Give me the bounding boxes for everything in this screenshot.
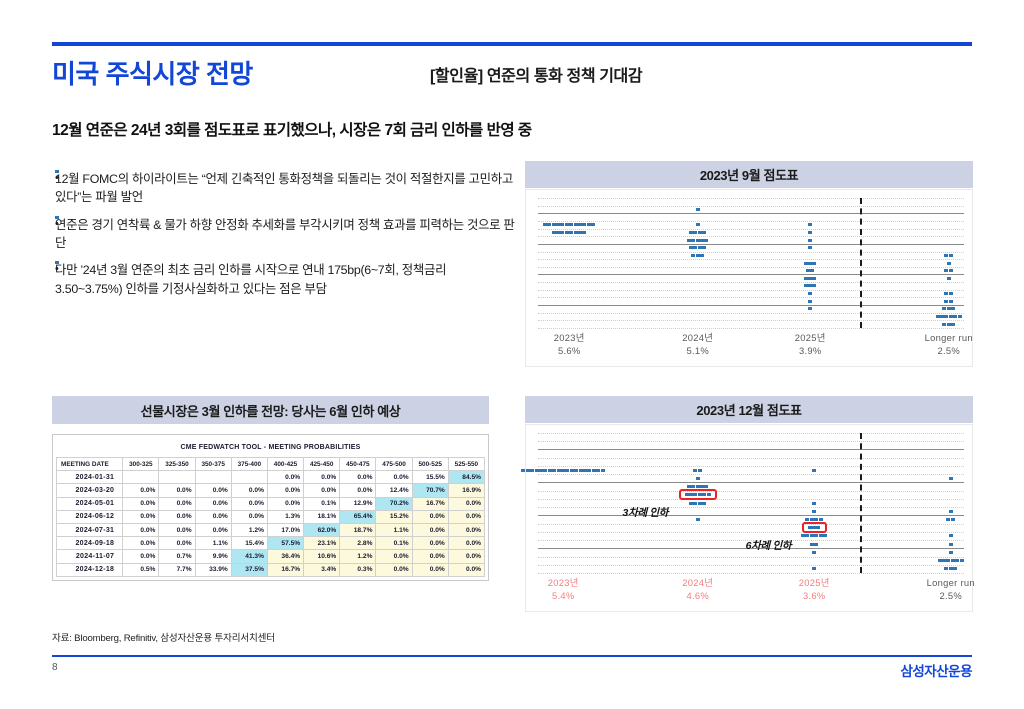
dot-marker bbox=[953, 315, 957, 318]
dot-marker bbox=[940, 315, 944, 318]
x-axis-label-median: 2.5% bbox=[891, 590, 1011, 603]
axis-divider bbox=[860, 198, 862, 328]
dot-marker bbox=[808, 284, 812, 287]
column-header: 350-375 bbox=[195, 458, 231, 471]
cell-probability: 0.0% bbox=[123, 537, 159, 550]
gridline bbox=[538, 482, 964, 483]
x-axis-label-median: 3.9% bbox=[750, 345, 870, 358]
dot-marker bbox=[574, 469, 578, 472]
cell-probability: 57.5% bbox=[267, 537, 303, 550]
cell-probability: 1.2% bbox=[231, 523, 267, 536]
cell-probability: 15.5% bbox=[412, 471, 448, 484]
cell-probability: 0.5% bbox=[123, 563, 159, 576]
gridline bbox=[538, 229, 964, 230]
dot-marker bbox=[823, 534, 827, 537]
plot-area bbox=[538, 198, 964, 328]
cell-probability: 36.4% bbox=[267, 550, 303, 563]
cell-probability bbox=[231, 471, 267, 484]
dot-marker bbox=[557, 469, 561, 472]
cell-probability: 0.0% bbox=[159, 484, 195, 497]
dot-marker bbox=[565, 223, 569, 226]
dot-marker bbox=[936, 315, 940, 318]
dot-marker bbox=[949, 477, 953, 480]
dot-marker bbox=[591, 223, 595, 226]
x-axis-label: 2023년5.6% bbox=[509, 332, 629, 357]
column-header: 500-525 bbox=[412, 458, 448, 471]
cell-probability: 41.3% bbox=[231, 550, 267, 563]
dot-marker bbox=[696, 223, 700, 226]
dot-marker bbox=[819, 518, 823, 521]
dot-marker bbox=[810, 543, 814, 546]
x-axis-label: 2024년5.1% bbox=[638, 332, 758, 357]
cell-probability: 1.3% bbox=[267, 510, 303, 523]
x-axis-label-category: 2023년 bbox=[509, 332, 629, 345]
dot-marker bbox=[696, 254, 700, 257]
dot-marker bbox=[810, 269, 814, 272]
cell-probability: 16.9% bbox=[448, 484, 484, 497]
dot-marker bbox=[570, 469, 574, 472]
dot-marker bbox=[539, 469, 543, 472]
annotation-label: 3차례 인하 bbox=[623, 505, 669, 520]
column-header: 425-450 bbox=[304, 458, 340, 471]
list-item: • 연준은 경기 연착륙 & 물가 하향 안정화 추세화를 부각시키며 정책 효… bbox=[55, 216, 515, 253]
dot-marker bbox=[569, 231, 573, 234]
dot-marker bbox=[698, 246, 702, 249]
footer-rule bbox=[52, 655, 972, 657]
x-axis-labels: 2023년5.4%2024년4.6%2025년3.6%Longer run2.5… bbox=[538, 575, 964, 609]
dot-marker bbox=[942, 307, 946, 310]
cell-meeting-date: 2024-11-07 bbox=[57, 550, 123, 563]
cell-probability: 0.0% bbox=[231, 510, 267, 523]
x-axis-label: 2025년3.6% bbox=[754, 577, 874, 602]
dot-marker bbox=[578, 223, 582, 226]
bullet-marker-icon: • bbox=[55, 216, 59, 219]
cell-probability: 18.1% bbox=[304, 510, 340, 523]
dot-marker bbox=[689, 502, 693, 505]
cell-probability: 7.7% bbox=[159, 563, 195, 576]
dot-marker bbox=[579, 469, 583, 472]
dot-marker bbox=[944, 254, 948, 257]
dot-marker bbox=[574, 231, 578, 234]
page-subtitle: [할인율] 연준의 통화 정책 기대감 bbox=[430, 62, 642, 86]
cell-probability: 0.0% bbox=[412, 537, 448, 550]
gridline bbox=[538, 297, 964, 298]
dot-marker bbox=[810, 518, 814, 521]
dot-marker bbox=[693, 469, 697, 472]
dot-marker bbox=[526, 469, 530, 472]
dot-marker bbox=[944, 292, 948, 295]
list-item-text: 연준은 경기 연착륙 & 물가 하향 안정화 추세화를 부각시키며 정책 효과를… bbox=[55, 216, 515, 253]
dot-marker bbox=[810, 534, 814, 537]
annotation-highlight-box bbox=[679, 489, 717, 500]
dot-marker bbox=[951, 559, 955, 562]
cell-probability: 0.7% bbox=[159, 550, 195, 563]
dot-marker bbox=[953, 567, 957, 570]
page-title: 미국 주식시장 전망 bbox=[52, 54, 253, 91]
dot-marker bbox=[805, 518, 809, 521]
table-row: 2024-09-180.0%0.0%1.1%15.4%57.5%23.1%2.8… bbox=[57, 537, 485, 550]
cell-probability: 15.4% bbox=[231, 537, 267, 550]
table-header-row: MEETING DATE300-325325-350350-375375-400… bbox=[57, 458, 485, 471]
dot-marker bbox=[691, 254, 695, 257]
cell-probability: 0.0% bbox=[304, 471, 340, 484]
dot-marker bbox=[596, 469, 600, 472]
dot-marker bbox=[696, 477, 700, 480]
cell-probability bbox=[195, 471, 231, 484]
cell-probability: 0.0% bbox=[195, 484, 231, 497]
cell-meeting-date: 2024-06-12 bbox=[57, 510, 123, 523]
cell-probability: 33.9% bbox=[195, 563, 231, 576]
cell-probability: 0.0% bbox=[376, 471, 412, 484]
dot-marker bbox=[942, 323, 946, 326]
dot-marker bbox=[801, 534, 805, 537]
column-header: 300-325 bbox=[123, 458, 159, 471]
gridline bbox=[538, 267, 964, 268]
gridline bbox=[538, 282, 964, 283]
dot-marker bbox=[808, 292, 812, 295]
table-row: 2024-07-310.0%0.0%0.0%1.2%17.0%62.0%18.7… bbox=[57, 523, 485, 536]
gridline bbox=[538, 449, 964, 450]
dot-marker bbox=[696, 239, 700, 242]
dot-marker bbox=[808, 307, 812, 310]
dot-marker bbox=[543, 223, 547, 226]
column-header: 325-350 bbox=[159, 458, 195, 471]
dot-marker bbox=[587, 469, 591, 472]
gridline bbox=[538, 236, 964, 237]
cell-probability: 17.0% bbox=[267, 523, 303, 536]
x-axis-label: 2023년5.4% bbox=[503, 577, 623, 602]
dot-marker bbox=[808, 231, 812, 234]
cell-meeting-date: 2024-07-31 bbox=[57, 523, 123, 536]
x-axis-labels: 2023년5.6%2024년5.1%2025년3.9%Longer run2.5… bbox=[538, 330, 964, 364]
x-axis-label-category: 2023년 bbox=[503, 577, 623, 590]
dot-marker bbox=[808, 239, 812, 242]
cell-probability: 0.0% bbox=[448, 550, 484, 563]
gridline bbox=[538, 206, 964, 207]
dot-marker bbox=[806, 269, 810, 272]
dot-marker bbox=[583, 469, 587, 472]
dot-marker bbox=[578, 231, 582, 234]
dot-marker bbox=[696, 518, 700, 521]
table-row: 2024-12-180.5%7.7%33.9%37.5%16.7%3.4%0.3… bbox=[57, 563, 485, 576]
x-axis-label: 2024년4.6% bbox=[638, 577, 758, 602]
dot-marker bbox=[700, 485, 704, 488]
dot-marker bbox=[812, 284, 816, 287]
brand-logo: 삼성자산운용 bbox=[900, 660, 972, 680]
column-header: 475-500 bbox=[376, 458, 412, 471]
column-header: 400-425 bbox=[267, 458, 303, 471]
dot-marker bbox=[814, 543, 818, 546]
section-header-september-dotplot: 2023년 9월 점도표 bbox=[525, 161, 973, 188]
dot-marker bbox=[949, 510, 953, 513]
dot-marker bbox=[560, 231, 564, 234]
dot-marker bbox=[946, 559, 950, 562]
cell-probability: 16.7% bbox=[267, 563, 303, 576]
dot-marker bbox=[530, 469, 534, 472]
table-row: 2024-11-070.0%0.7%9.9%41.3%36.4%10.6%1.2… bbox=[57, 550, 485, 563]
dot-marker bbox=[812, 567, 816, 570]
dot-marker bbox=[947, 323, 951, 326]
dot-marker bbox=[582, 223, 586, 226]
gridline bbox=[538, 259, 964, 260]
dot-marker bbox=[938, 559, 942, 562]
dot-marker bbox=[687, 485, 691, 488]
dot-marker bbox=[700, 239, 704, 242]
cell-probability: 1.1% bbox=[195, 537, 231, 550]
dot-marker bbox=[947, 307, 951, 310]
gridline bbox=[538, 198, 964, 199]
cell-probability: 18.7% bbox=[340, 523, 376, 536]
slide: 미국 주식시장 전망 [할인율] 연준의 통화 정책 기대감 12월 연준은 2… bbox=[0, 0, 1024, 709]
dot-marker bbox=[960, 559, 964, 562]
dot-marker bbox=[949, 315, 953, 318]
cell-probability: 0.1% bbox=[304, 497, 340, 510]
cell-probability: 84.5% bbox=[448, 471, 484, 484]
dot-marker bbox=[949, 567, 953, 570]
gridline bbox=[538, 491, 964, 492]
cell-probability: 16.7% bbox=[412, 497, 448, 510]
fedwatch-table-container: CME FEDWATCH TOOL - MEETING PROBABILITIE… bbox=[52, 434, 489, 581]
cell-probability: 0.0% bbox=[159, 510, 195, 523]
cell-probability: 0.0% bbox=[448, 563, 484, 576]
cell-meeting-date: 2024-01-31 bbox=[57, 471, 123, 484]
gridline bbox=[538, 313, 964, 314]
cell-probability: 0.0% bbox=[231, 484, 267, 497]
dotplot-chart-december: 3차례 인하6차례 인하 2023년5.4%2024년4.6%2025년3.6%… bbox=[525, 424, 973, 612]
dot-marker bbox=[700, 254, 704, 257]
cell-probability: 0.0% bbox=[340, 471, 376, 484]
dot-marker bbox=[552, 469, 556, 472]
column-header: MEETING DATE bbox=[57, 458, 123, 471]
dot-marker bbox=[698, 469, 702, 472]
axis-divider bbox=[860, 433, 862, 573]
cell-probability: 0.0% bbox=[412, 523, 448, 536]
cell-probability: 0.0% bbox=[195, 510, 231, 523]
cell-probability: 0.0% bbox=[123, 510, 159, 523]
dot-marker bbox=[804, 277, 808, 280]
cell-meeting-date: 2024-03-20 bbox=[57, 484, 123, 497]
dot-marker bbox=[947, 277, 951, 280]
gridline bbox=[538, 466, 964, 467]
dot-marker bbox=[689, 231, 693, 234]
dot-marker bbox=[698, 502, 702, 505]
cell-probability: 0.0% bbox=[340, 484, 376, 497]
dot-marker bbox=[949, 543, 953, 546]
cell-probability: 0.0% bbox=[412, 563, 448, 576]
gridline bbox=[538, 474, 964, 475]
dot-marker bbox=[693, 231, 697, 234]
cell-probability: 9.9% bbox=[195, 550, 231, 563]
table-title: CME FEDWATCH TOOL - MEETING PROBABILITIE… bbox=[57, 438, 485, 458]
dot-marker bbox=[702, 246, 706, 249]
dot-marker bbox=[808, 300, 812, 303]
dot-marker bbox=[951, 518, 955, 521]
dot-marker bbox=[808, 223, 812, 226]
dot-marker bbox=[808, 277, 812, 280]
dot-marker bbox=[951, 323, 955, 326]
gridline bbox=[538, 252, 964, 253]
list-item-text: 다만 ’24년 3월 연준의 최초 금리 인하를 시작으로 연내 175bp(6… bbox=[55, 261, 515, 298]
cell-probability: 3.4% bbox=[304, 563, 340, 576]
table-row: 2024-06-120.0%0.0%0.0%0.0%1.3%18.1%65.4%… bbox=[57, 510, 485, 523]
dot-marker bbox=[696, 485, 700, 488]
cell-probability: 0.0% bbox=[195, 497, 231, 510]
x-axis-label: Longer run2.5% bbox=[889, 332, 1009, 357]
source-note: 자료: Bloomberg, Refinitiv, 삼성자산운용 투자리서치센터 bbox=[52, 630, 275, 644]
dot-marker bbox=[704, 485, 708, 488]
cell-probability: 1.2% bbox=[340, 550, 376, 563]
cell-probability: 12.9% bbox=[340, 497, 376, 510]
x-axis-label-category: 2025년 bbox=[754, 577, 874, 590]
column-header: 375-400 bbox=[231, 458, 267, 471]
x-axis-label-median: 2.5% bbox=[889, 345, 1009, 358]
x-axis-label-median: 5.4% bbox=[503, 590, 623, 603]
cell-probability: 0.0% bbox=[123, 484, 159, 497]
dot-marker bbox=[587, 223, 591, 226]
cell-probability bbox=[123, 471, 159, 484]
annotation-label: 6차례 인하 bbox=[746, 538, 792, 553]
dot-marker bbox=[693, 502, 697, 505]
gridline bbox=[538, 573, 964, 574]
dot-marker bbox=[698, 231, 702, 234]
dot-marker bbox=[574, 223, 578, 226]
cell-probability: 0.0% bbox=[448, 497, 484, 510]
gridline bbox=[538, 458, 964, 459]
dot-marker bbox=[949, 551, 953, 554]
dot-marker bbox=[814, 518, 818, 521]
cell-probability: 23.1% bbox=[304, 537, 340, 550]
x-axis-label-median: 4.6% bbox=[638, 590, 758, 603]
dot-marker bbox=[812, 262, 816, 265]
section-header-futures: 선물시장은 3월 인하를 전망: 당사는 6월 인하 예상 bbox=[52, 396, 489, 424]
dot-marker bbox=[693, 246, 697, 249]
gridline bbox=[538, 499, 964, 500]
bullet-marker-icon: • bbox=[55, 261, 59, 264]
gridline bbox=[538, 433, 964, 434]
cell-probability: 37.5% bbox=[231, 563, 267, 576]
lead-statement: 12월 연준은 24년 3회를 점도표로 표기했으나, 시장은 7회 금리 인하… bbox=[52, 118, 532, 140]
dot-marker bbox=[944, 300, 948, 303]
dot-marker bbox=[569, 223, 573, 226]
gridline bbox=[538, 507, 964, 508]
cell-probability bbox=[159, 471, 195, 484]
dot-marker bbox=[696, 208, 700, 211]
dot-marker bbox=[944, 269, 948, 272]
dot-marker bbox=[552, 231, 556, 234]
dot-marker bbox=[819, 534, 823, 537]
dot-marker bbox=[942, 559, 946, 562]
dot-marker bbox=[601, 469, 605, 472]
cell-probability: 0.0% bbox=[123, 550, 159, 563]
gridline bbox=[538, 274, 964, 275]
gridline bbox=[538, 221, 964, 222]
dot-marker bbox=[702, 502, 706, 505]
dot-marker bbox=[687, 239, 691, 242]
dot-marker bbox=[949, 254, 953, 257]
dot-marker bbox=[808, 262, 812, 265]
dot-marker bbox=[691, 485, 695, 488]
dot-marker bbox=[958, 315, 962, 318]
dot-marker bbox=[812, 469, 816, 472]
x-axis-label-category: 2024년 bbox=[638, 332, 758, 345]
cell-probability: 0.0% bbox=[448, 537, 484, 550]
dot-marker bbox=[812, 502, 816, 505]
cell-probability: 0.1% bbox=[376, 537, 412, 550]
cell-probability: 0.0% bbox=[448, 510, 484, 523]
cell-probability: 0.0% bbox=[448, 523, 484, 536]
table-row: 2024-05-010.0%0.0%0.0%0.0%0.0%0.1%12.9%7… bbox=[57, 497, 485, 510]
cell-probability: 0.0% bbox=[267, 471, 303, 484]
dot-marker bbox=[949, 292, 953, 295]
dotplot-chart-september: 2023년5.6%2024년5.1%2025년3.9%Longer run2.5… bbox=[525, 189, 973, 367]
gridline bbox=[538, 565, 964, 566]
dot-marker bbox=[812, 510, 816, 513]
cell-probability: 0.0% bbox=[376, 563, 412, 576]
dot-marker bbox=[804, 284, 808, 287]
dot-marker bbox=[805, 534, 809, 537]
dot-marker bbox=[944, 567, 948, 570]
bullet-list: • 12월 FOMC의 하이라이트는 “언제 긴축적인 통화정책을 되돌리는 것… bbox=[55, 170, 515, 307]
x-axis-label-median: 5.6% bbox=[509, 345, 629, 358]
dot-marker bbox=[955, 559, 959, 562]
plot-area: 3차례 인하6차례 인하 bbox=[538, 433, 964, 573]
cell-meeting-date: 2024-12-18 bbox=[57, 563, 123, 576]
cell-probability: 0.0% bbox=[412, 550, 448, 563]
cell-probability: 15.2% bbox=[376, 510, 412, 523]
dot-marker bbox=[812, 277, 816, 280]
dot-marker bbox=[946, 518, 950, 521]
gridline bbox=[538, 290, 964, 291]
cell-meeting-date: 2024-05-01 bbox=[57, 497, 123, 510]
cell-probability: 70.2% bbox=[376, 497, 412, 510]
gridline bbox=[538, 328, 964, 329]
fedwatch-table: CME FEDWATCH TOOL - MEETING PROBABILITIE… bbox=[56, 438, 485, 577]
dot-marker bbox=[814, 534, 818, 537]
dot-marker bbox=[944, 315, 948, 318]
dot-marker bbox=[556, 231, 560, 234]
dot-marker bbox=[548, 469, 552, 472]
column-header: 450-475 bbox=[340, 458, 376, 471]
table-row: 2024-03-200.0%0.0%0.0%0.0%0.0%0.0%0.0%12… bbox=[57, 484, 485, 497]
gridline bbox=[538, 213, 964, 214]
cell-probability: 10.6% bbox=[304, 550, 340, 563]
dot-marker bbox=[949, 269, 953, 272]
annotation-highlight-box bbox=[802, 522, 827, 533]
dot-marker bbox=[561, 469, 565, 472]
cell-probability: 0.0% bbox=[159, 523, 195, 536]
x-axis-label-category: 2025년 bbox=[750, 332, 870, 345]
gridline bbox=[538, 515, 964, 516]
gridline bbox=[538, 244, 964, 245]
cell-probability: 0.0% bbox=[231, 497, 267, 510]
dot-marker bbox=[689, 246, 693, 249]
gridline bbox=[538, 441, 964, 442]
gridline bbox=[538, 320, 964, 321]
cell-probability: 0.0% bbox=[123, 523, 159, 536]
x-axis-label: Longer run2.5% bbox=[891, 577, 1011, 602]
x-axis-label-category: 2024년 bbox=[638, 577, 758, 590]
dot-marker bbox=[592, 469, 596, 472]
list-item: • 다만 ’24년 3월 연준의 최초 금리 인하를 시작으로 연내 175bp… bbox=[55, 261, 515, 298]
dot-marker bbox=[804, 262, 808, 265]
cell-probability: 0.0% bbox=[159, 537, 195, 550]
cell-probability: 0.0% bbox=[412, 510, 448, 523]
bullet-marker-icon: • bbox=[55, 170, 59, 173]
gridline bbox=[538, 532, 964, 533]
cell-probability: 0.0% bbox=[123, 497, 159, 510]
dot-marker bbox=[951, 307, 955, 310]
dot-marker bbox=[565, 469, 569, 472]
